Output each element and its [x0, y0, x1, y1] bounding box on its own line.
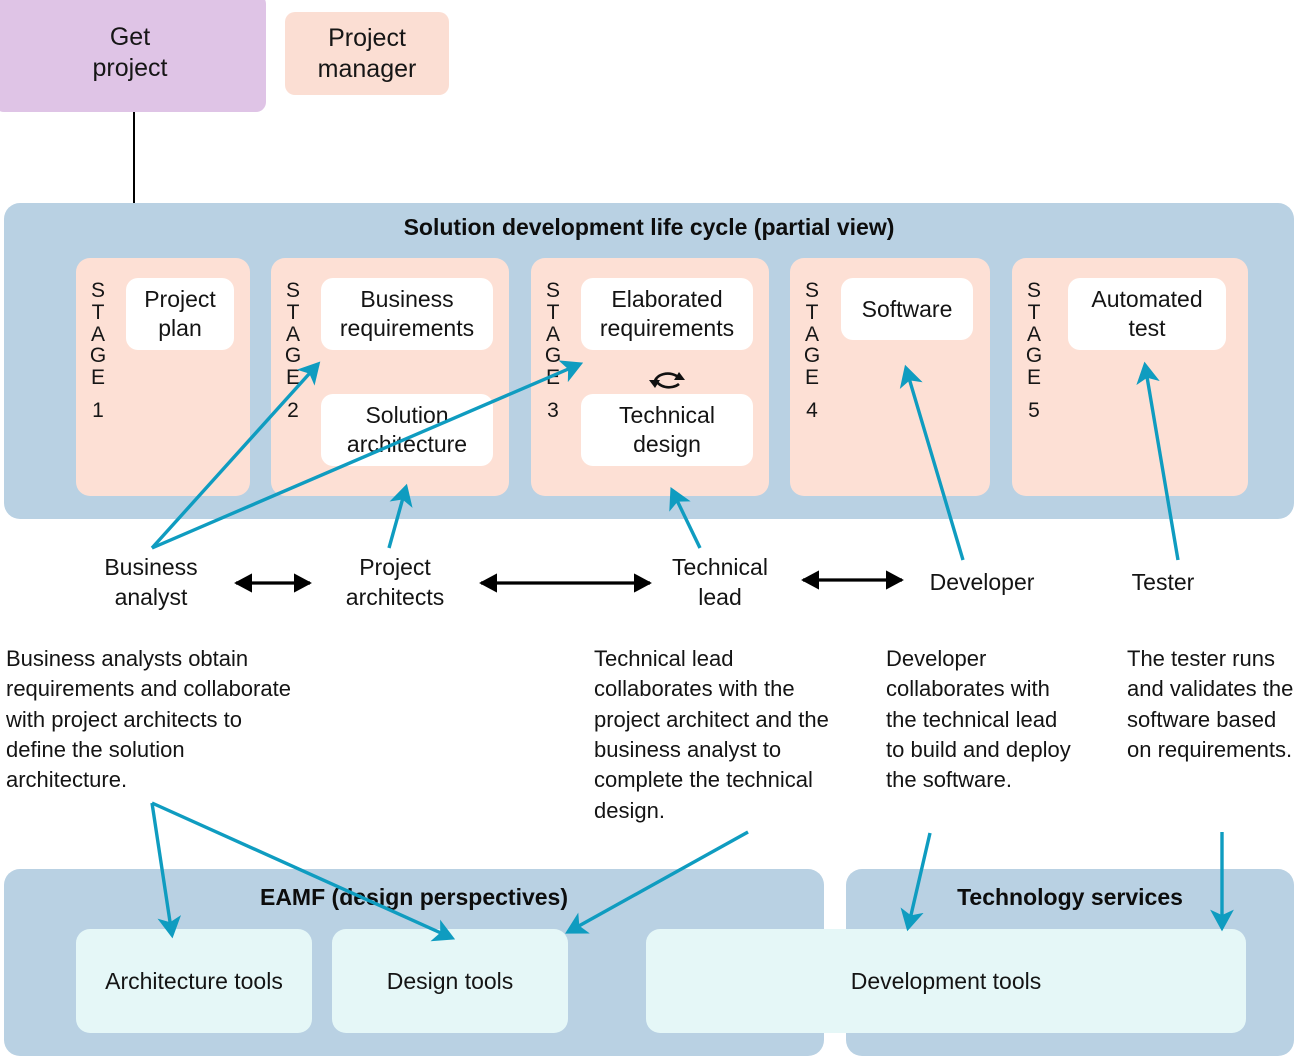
- stage-card-2: S T A G E 2 Business requirements Soluti…: [271, 258, 509, 496]
- stage-rail-3: S T A G E 3: [531, 258, 575, 496]
- stage-body-4: Software: [834, 258, 990, 496]
- refresh-loop-icon: [645, 362, 689, 398]
- doc-elaborated-requirements[interactable]: Elaborated requirements: [581, 278, 753, 350]
- stage-card-5: S T A G E 5 Automated test: [1012, 258, 1248, 496]
- stage-letter: A: [805, 324, 819, 346]
- stage-letter: T: [547, 302, 560, 324]
- stage-letter: A: [1027, 324, 1041, 346]
- stage-letter: G: [285, 345, 301, 367]
- role-tester: Tester: [1093, 568, 1233, 598]
- stage-number: 3: [547, 399, 559, 423]
- stage-body-2: Business requirements Solution architect…: [315, 258, 509, 496]
- stage-letter: E: [1027, 367, 1041, 389]
- role-business-analyst: Businessanalyst: [66, 553, 236, 613]
- stage-letter: E: [546, 367, 560, 389]
- stage-rail-1: S T A G E 1: [76, 258, 120, 496]
- stage-letter: G: [90, 345, 106, 367]
- stage-letter: T: [806, 302, 819, 324]
- stage-body-1: Project plan: [120, 258, 250, 496]
- stage-letter: E: [91, 367, 105, 389]
- doc-business-requirements[interactable]: Business requirements: [321, 278, 493, 350]
- stage-letter: S: [1027, 280, 1041, 302]
- description-business-analyst: Business analysts obtain requirements an…: [6, 644, 306, 796]
- stage-number: 2: [287, 399, 299, 423]
- role-technical-lead: Technicallead: [635, 553, 805, 613]
- stage-letter: E: [286, 367, 300, 389]
- stage-letter: G: [1026, 345, 1042, 367]
- doc-project-plan[interactable]: Project plan: [126, 278, 234, 350]
- stage-letter: S: [286, 280, 300, 302]
- stage-letter: S: [805, 280, 819, 302]
- description-tester: The tester runs and validates the softwa…: [1127, 644, 1297, 765]
- project-manager-box: Projectmanager: [285, 12, 449, 95]
- get-project-connector-line: [133, 112, 135, 204]
- doc-solution-architecture[interactable]: Solution architecture: [321, 394, 493, 466]
- stage-letter: T: [287, 302, 300, 324]
- eamf-panel-title: EAMF (design perspectives): [4, 880, 824, 914]
- stage-letter: E: [805, 367, 819, 389]
- get-project-label: Getproject: [92, 22, 167, 84]
- development-tools-box[interactable]: Development tools: [646, 929, 1246, 1033]
- design-tools-box[interactable]: Design tools: [332, 929, 568, 1033]
- stage-body-5: Automated test: [1056, 258, 1248, 496]
- stage-letter: A: [546, 324, 560, 346]
- project-manager-label: Projectmanager: [318, 23, 417, 85]
- get-project-box: Getproject: [0, 0, 266, 112]
- stage-rail-5: S T A G E 5: [1012, 258, 1056, 496]
- role-project-architects: Projectarchitects: [310, 553, 480, 613]
- stage-letter: G: [545, 345, 561, 367]
- stage-letter: A: [91, 324, 105, 346]
- stage-letter: A: [286, 324, 300, 346]
- technology-services-panel-title: Technology services: [846, 880, 1294, 914]
- stage-number: 4: [806, 399, 818, 423]
- architecture-tools-box[interactable]: Architecture tools: [76, 929, 312, 1033]
- stage-rail-2: S T A G E 2: [271, 258, 315, 496]
- diagram-canvas: Getproject Projectmanager Solution devel…: [0, 0, 1300, 1056]
- stage-letter: S: [91, 280, 105, 302]
- doc-automated-test[interactable]: Automated test: [1068, 278, 1226, 350]
- stage-letter: G: [804, 345, 820, 367]
- stage-number: 5: [1028, 399, 1040, 423]
- stage-card-4: S T A G E 4 Software: [790, 258, 990, 496]
- description-technical-lead: Technical lead collaborates with the pro…: [594, 644, 852, 826]
- stage-letter: T: [92, 302, 105, 324]
- stage-letter: S: [546, 280, 560, 302]
- stage-letter: T: [1028, 302, 1041, 324]
- doc-software[interactable]: Software: [841, 278, 973, 340]
- role-developer: Developer: [897, 568, 1067, 598]
- stage-rail-4: S T A G E 4: [790, 258, 834, 496]
- description-developer: Developer collaborates with the technica…: [886, 644, 1076, 796]
- stage-card-1: S T A G E 1 Project plan: [76, 258, 250, 496]
- doc-technical-design[interactable]: Technical design: [581, 394, 753, 466]
- sdlc-panel-title: Solution development life cycle (partial…: [4, 210, 1294, 244]
- stage-number: 1: [92, 399, 104, 423]
